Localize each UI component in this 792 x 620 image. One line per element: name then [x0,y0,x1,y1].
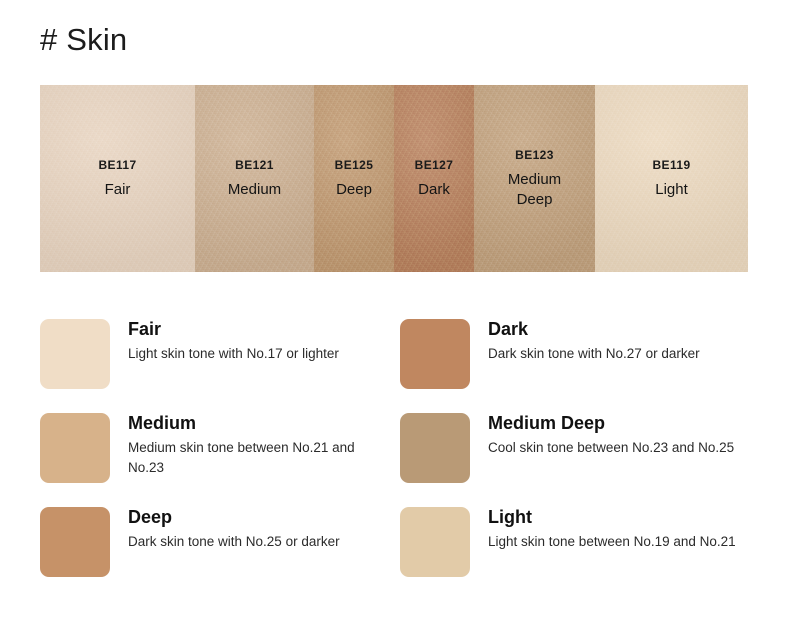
swatch-name: Light [652,180,690,199]
skin-tone-legend: FairLight skin tone with No.17 or lighte… [40,316,752,590]
legend-text-group: DeepDark skin tone with No.25 or darker [128,504,340,552]
swatch-code: BE123 [508,148,561,163]
legend-color-swatch [40,319,110,389]
legend-color-swatch [400,507,470,577]
legend-name: Medium Deep [488,412,734,435]
page-title: # Skin [40,22,127,58]
legend-name: Fair [128,318,339,341]
swatch-label-group: BE123MediumDeep [508,148,561,208]
swatch-name: MediumDeep [508,170,561,208]
legend-color-swatch [40,413,110,483]
legend-description: Dark skin tone with No.25 or darker [128,532,340,551]
swatch-panel-be117: BE117Fair [40,85,195,272]
swatch-name: Medium [228,180,281,199]
swatch-label-group: BE125Deep [335,158,374,199]
swatch-name: Dark [415,180,454,199]
legend-text-group: DarkDark skin tone with No.27 or darker [488,316,700,364]
legend-name: Dark [488,318,700,341]
legend-description: Light skin tone with No.17 or lighter [128,344,339,363]
swatch-label-group: BE121Medium [228,158,281,199]
legend-description: Dark skin tone with No.27 or darker [488,344,700,363]
swatch-name: Fair [98,180,136,199]
swatch-panel-be121: BE121Medium [195,85,314,272]
legend-item-dark: DarkDark skin tone with No.27 or darker [400,316,752,402]
legend-description: Medium skin tone between No.21 and No.23 [128,438,390,476]
legend-color-swatch [400,319,470,389]
swatch-name: Deep [335,180,374,199]
legend-name: Deep [128,506,340,529]
legend-item-light: LightLight skin tone between No.19 and N… [400,504,752,590]
swatch-panel-be125: BE125Deep [314,85,394,272]
legend-color-swatch [40,507,110,577]
swatch-code: BE117 [98,158,136,173]
swatch-code: BE121 [228,158,281,173]
legend-text-group: FairLight skin tone with No.17 or lighte… [128,316,339,364]
legend-item-medium: MediumMedium skin tone between No.21 and… [40,410,392,496]
swatch-code: BE125 [335,158,374,173]
legend-description: Cool skin tone between No.23 and No.25 [488,438,734,457]
legend-name: Medium [128,412,390,435]
swatch-label-group: BE127Dark [415,158,454,199]
legend-text-group: LightLight skin tone between No.19 and N… [488,504,736,552]
legend-name: Light [488,506,736,529]
legend-text-group: MediumMedium skin tone between No.21 and… [128,410,390,477]
legend-color-swatch [400,413,470,483]
legend-item-medium-deep: Medium DeepCool skin tone between No.23 … [400,410,752,496]
swatch-code: BE127 [415,158,454,173]
swatch-panel-be123: BE123MediumDeep [474,85,595,272]
swatch-panel-be119: BE119Light [595,85,748,272]
legend-text-group: Medium DeepCool skin tone between No.23 … [488,410,734,458]
swatch-panel-be127: BE127Dark [394,85,474,272]
legend-description: Light skin tone between No.19 and No.21 [488,532,736,551]
swatch-label-group: BE117Fair [98,158,136,199]
legend-item-deep: DeepDark skin tone with No.25 or darker [40,504,392,590]
legend-item-fair: FairLight skin tone with No.17 or lighte… [40,316,392,402]
swatch-label-group: BE119Light [652,158,690,199]
swatch-code: BE119 [652,158,690,173]
skin-tone-swatch-bar: BE117FairBE121MediumBE125DeepBE127DarkBE… [40,85,748,272]
